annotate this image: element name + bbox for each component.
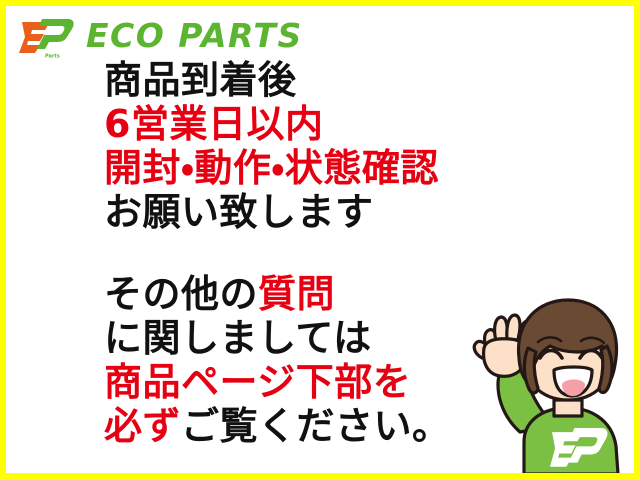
- brand-wordmark: ECO PARTS: [86, 19, 303, 52]
- message-segment: お願い致します: [104, 190, 374, 234]
- svg-text:Eco: Eco: [23, 48, 33, 54]
- border-right: [634, 0, 640, 480]
- message-segment-highlight: 質問: [258, 272, 335, 316]
- border-left: [0, 0, 6, 480]
- brand-logo-lockup: Eco Parts ECO PARTS: [18, 12, 303, 60]
- message-segment: 商品ページ下部を: [104, 360, 411, 404]
- message-line: 6営業日以内: [104, 102, 534, 146]
- message-segment: その他の: [104, 272, 258, 316]
- border-top: [0, 0, 640, 6]
- eco-parts-notice-banner: Eco Parts ECO PARTS 商品到着後 6営業日以内 開封・動作・状…: [0, 0, 640, 480]
- message-segment: 商品到着後: [104, 58, 297, 102]
- paragraph-spacer: [104, 234, 534, 272]
- message-segment: ご覧ください。: [181, 404, 451, 448]
- message-segment: に関しましては: [104, 316, 372, 360]
- ep-monogram-icon: Eco Parts: [18, 13, 76, 59]
- message-segment: 6営業日以内: [104, 102, 323, 146]
- message-line: 開封・動作・状態確認: [104, 146, 534, 190]
- message-line: お願い致します: [104, 190, 534, 234]
- waving-woman-illustration: [462, 296, 634, 474]
- message-segment-highlight: 必ず: [104, 404, 181, 448]
- message-segment: 開封・動作・状態確認: [104, 146, 439, 190]
- mascot-neck: [554, 400, 582, 416]
- border-bottom: [0, 473, 640, 480]
- message-line: 商品到着後: [104, 58, 534, 102]
- svg-text:Parts: Parts: [45, 54, 60, 60]
